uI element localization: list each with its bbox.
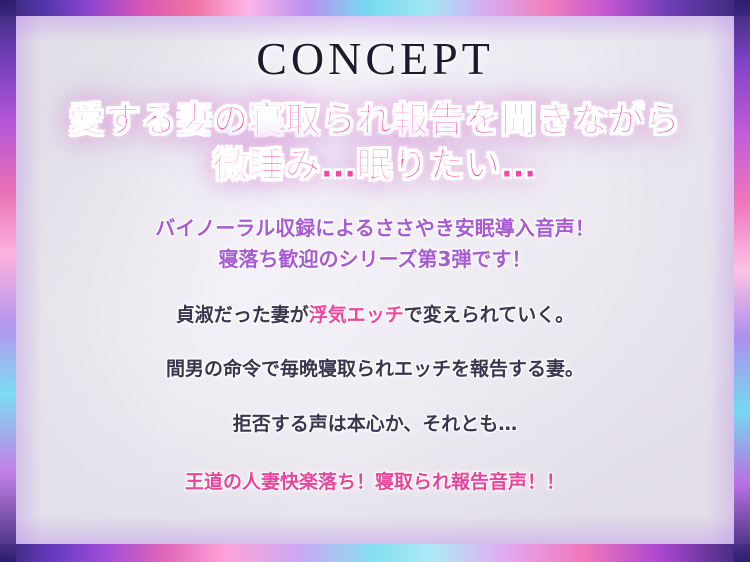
- concept-banner: CONCEPT 愛する妻の寝取られ報告を聞きながら 微睡み…眠りたい… バイノー…: [0, 0, 750, 562]
- paragraph-1-pre: 貞淑だった妻が: [176, 304, 309, 326]
- page-title: CONCEPT: [256, 32, 494, 85]
- lead-line-1: バイノーラル収録によるささやき安眠導入音声！: [155, 213, 594, 244]
- headline-line-2: 微睡み…眠りたい…: [69, 144, 681, 189]
- banner-content: CONCEPT 愛する妻の寝取られ報告を聞きながら 微睡み…眠りたい… バイノー…: [0, 0, 750, 562]
- paragraph-2: 間男の命令で毎晩寝取られエッチを報告する妻。: [155, 355, 594, 384]
- lead-line-2: 寝落ち歓迎のシリーズ第3弾です！: [155, 244, 594, 275]
- body-block: バイノーラル収録によるささやき安眠導入音声！ 寝落ち歓迎のシリーズ第3弾です！ …: [155, 213, 594, 497]
- headline-block: 愛する妻の寝取られ報告を聞きながら 微睡み…眠りたい…: [69, 99, 681, 189]
- paragraph-1-post: で変えられていく。: [404, 304, 574, 326]
- headline-line-1: 愛する妻の寝取られ報告を聞きながら: [69, 99, 681, 144]
- paragraph-3: 拒否する声は本心か、それとも…: [155, 410, 594, 439]
- paragraph-1-highlight: 浮気エッチ: [309, 304, 404, 326]
- paragraph-1: 貞淑だった妻が浮気エッチで変えられていく。: [155, 301, 594, 330]
- final-line: 王道の人妻快楽落ち！寝取られ報告音声！！: [155, 468, 594, 497]
